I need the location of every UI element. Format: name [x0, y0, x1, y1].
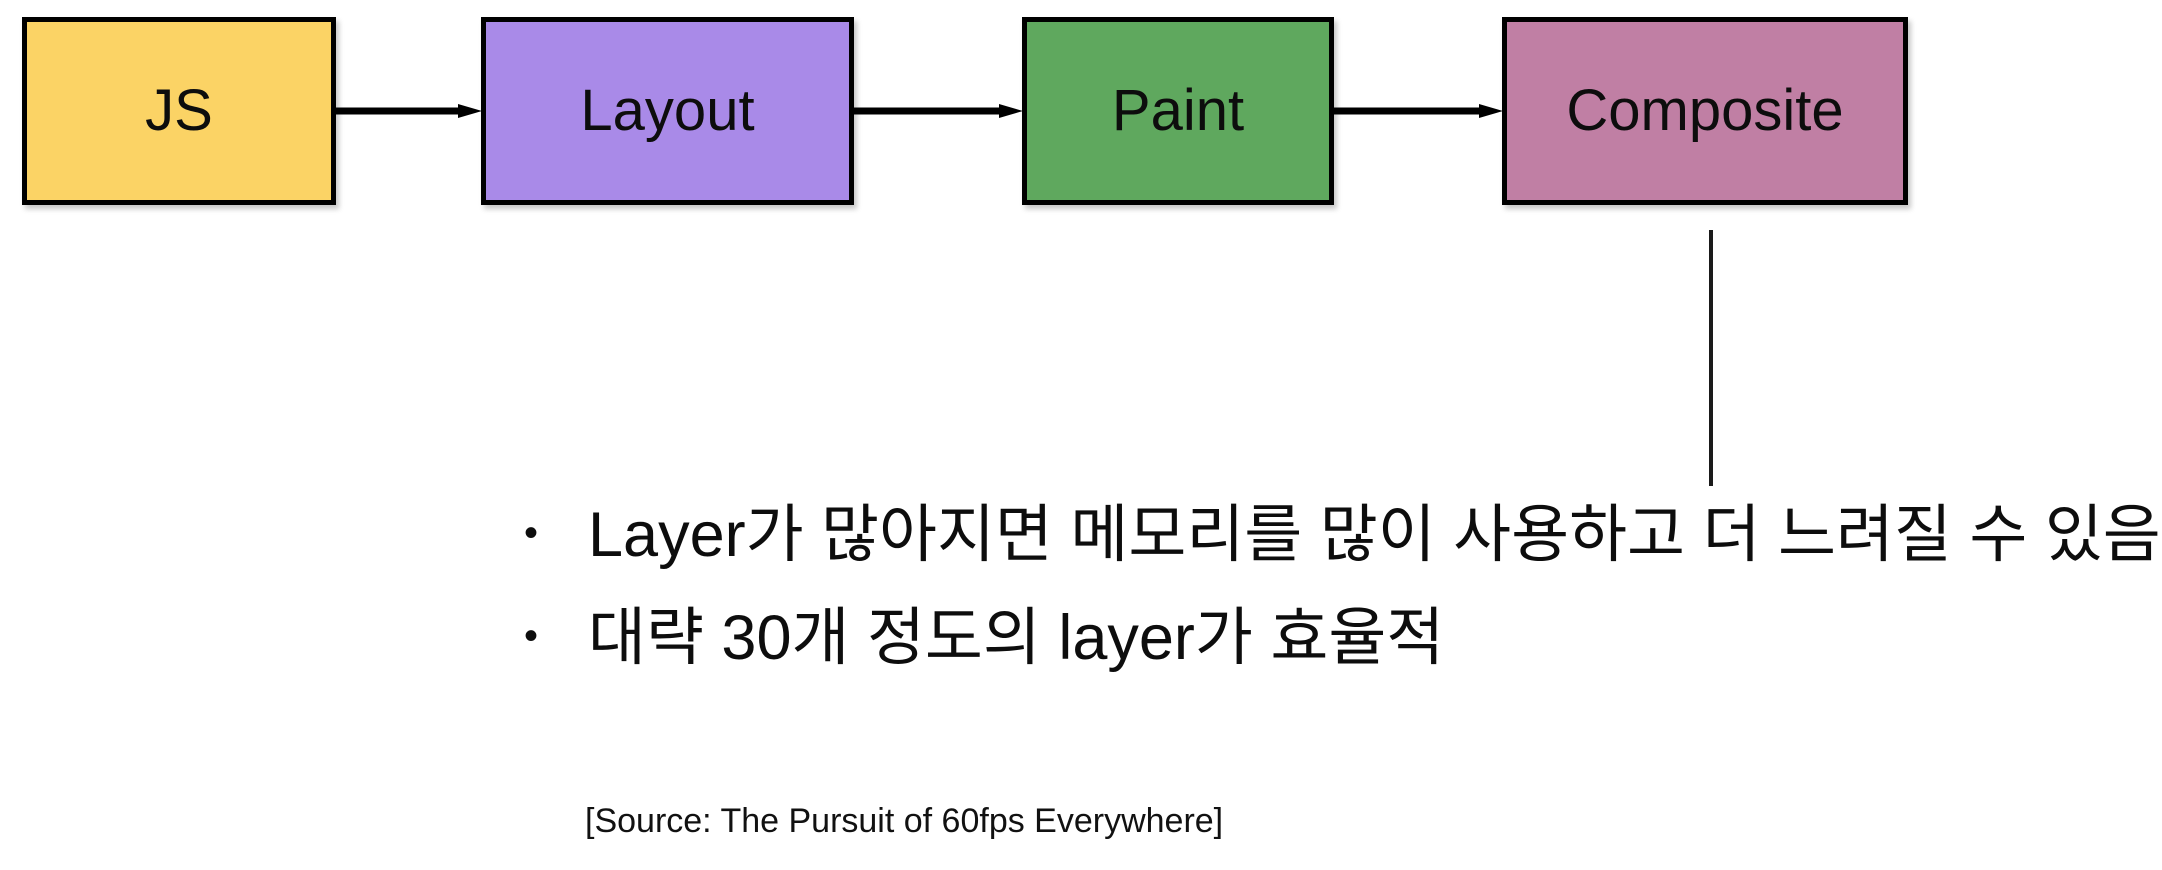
- list-item-text: 대략 30개 정도의 layer가 효율적: [588, 603, 1444, 673]
- source-caption: [Source: The Pursuit of 60fps Everywhere…: [585, 800, 1223, 842]
- pipeline-stage-paint[interactable]: Paint: [1022, 17, 1334, 205]
- connector-line-composite-to-notes: [1709, 230, 1713, 486]
- pipeline-stage-layout-label: Layout: [580, 82, 754, 140]
- bullet-marker-icon: •: [520, 500, 588, 566]
- pipeline-stage-layout[interactable]: Layout: [481, 17, 854, 205]
- pipeline-stage-paint-label: Paint: [1112, 82, 1244, 140]
- arrow-right-icon-layout-to-paint: [854, 104, 1023, 118]
- bullet-marker-icon: •: [520, 603, 588, 669]
- list-item: • 대략 30개 정도의 layer가 효율적: [520, 603, 2162, 706]
- pipeline-stage-js[interactable]: JS: [22, 17, 336, 205]
- pipeline-stage-composite[interactable]: Composite: [1502, 17, 1908, 205]
- list-item: • Layer가 많아지면 메모리를 많이 사용하고 더 느려질 수 있음: [520, 500, 2162, 603]
- arrow-right-icon-js-to-layout: [336, 104, 482, 118]
- notes-bullet-list: • Layer가 많아지면 메모리를 많이 사용하고 더 느려질 수 있음 • …: [520, 500, 2162, 706]
- list-item-text: Layer가 많아지면 메모리를 많이 사용하고 더 느려질 수 있음: [588, 500, 2161, 570]
- arrow-right-icon-paint-to-composite: [1334, 104, 1503, 118]
- slide-canvas: JS Layout Paint Composite • Layer가 많: [0, 0, 2162, 870]
- pipeline-stage-composite-label: Composite: [1566, 82, 1843, 140]
- pipeline-stage-js-label: JS: [145, 82, 213, 140]
